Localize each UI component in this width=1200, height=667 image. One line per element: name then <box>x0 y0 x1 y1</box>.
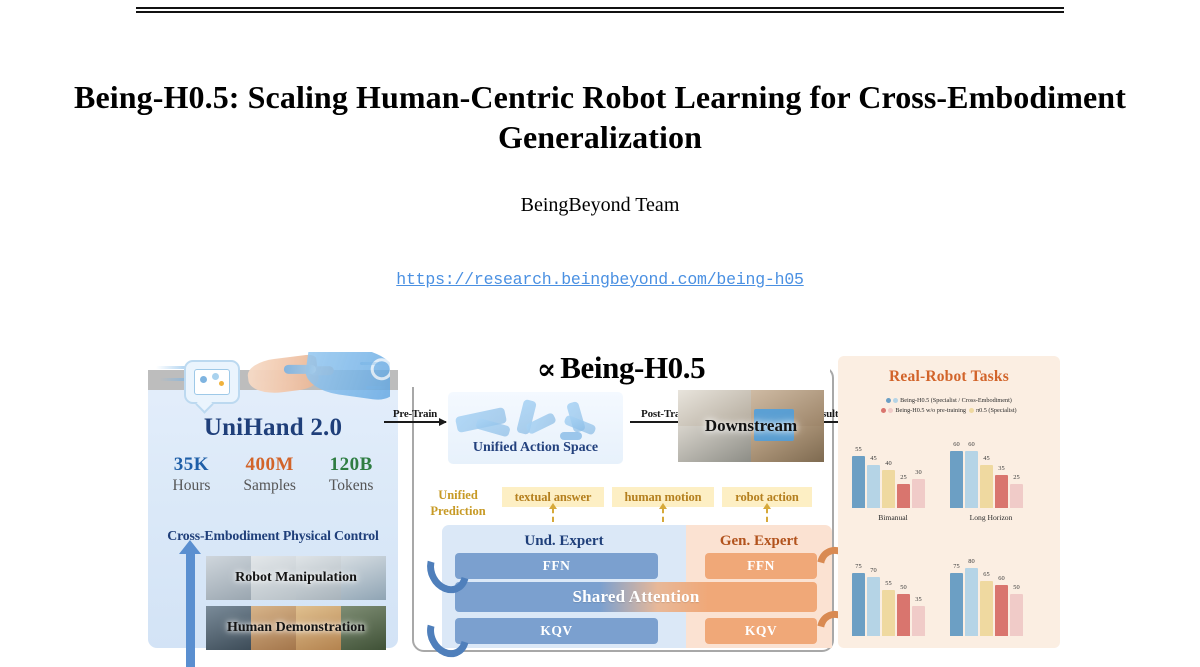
chart-fourth: 7580656050 <box>950 546 1032 650</box>
chart-long-horizon-xlabel: Long Horizon <box>950 513 1032 522</box>
legend-swatch-no-pretrain-a <box>881 408 886 413</box>
infinity-glyph-icon: ∝ <box>537 354 556 386</box>
human-demonstration-strip: Human Demonstration <box>206 606 386 650</box>
bar-value-label: 60 <box>953 441 959 448</box>
bar-value-label: 25 <box>900 474 906 481</box>
bar-value-label: 60 <box>998 575 1004 582</box>
upward-arrow-icon <box>186 552 195 667</box>
stat-hours-label: Hours <box>173 477 211 495</box>
stat-samples-label: Samples <box>243 477 296 495</box>
legend-item-1: Being-H0.5 w/o pre-training <box>881 406 966 416</box>
prediction-tick-textual <box>552 508 554 522</box>
bar: 70 <box>867 577 880 636</box>
bar: 75 <box>852 573 865 636</box>
bar: 55 <box>852 456 865 508</box>
bar: 30 <box>912 479 925 508</box>
bar: 55 <box>882 590 895 636</box>
speech-bubble-icon <box>184 360 240 404</box>
legend-swatch-cross-embodiment <box>893 398 898 403</box>
chart-bimanual: 5545402530 Bimanual <box>852 418 934 522</box>
page-title: Being-H0.5: Scaling Human-Centric Robot … <box>0 78 1200 157</box>
stat-tokens-label: Tokens <box>329 477 374 495</box>
chart-third-bars: 7570555035 <box>852 560 925 636</box>
legend-item-0: Being-H0.5 (Specialist / Cross-Embodimen… <box>886 396 1012 406</box>
stat-samples-value: 400M <box>243 454 296 476</box>
header-divider <box>136 7 1064 13</box>
bar: 50 <box>897 594 910 636</box>
bar: 25 <box>1010 484 1023 508</box>
bar: 60 <box>965 451 978 508</box>
bar: 75 <box>950 573 963 636</box>
unihand-title: UniHand 2.0 <box>148 414 398 442</box>
bar-value-label: 45 <box>870 455 876 462</box>
shared-attention-block: Shared Attention <box>455 582 817 612</box>
header-divider-line-1 <box>136 7 1064 9</box>
understanding-expert-label: Und. Expert <box>442 533 686 550</box>
prediction-tick-motion <box>662 508 664 522</box>
unihand-panel: UniHand 2.0 35K Hours 400M Samples 120B … <box>148 370 398 648</box>
legend-swatch-no-pretrain-b <box>888 408 893 413</box>
bar-value-label: 50 <box>900 584 906 591</box>
chart-long-horizon-bars: 6060453525 <box>950 432 1023 508</box>
bar-value-label: 75 <box>953 563 959 570</box>
chart-bimanual-xlabel: Bimanual <box>852 513 934 522</box>
bar: 60 <box>950 451 963 508</box>
bar: 25 <box>897 484 910 508</box>
chart-long-horizon: 6060453525 Long Horizon <box>950 418 1032 522</box>
ffn-generation: FFN <box>705 553 817 579</box>
stat-samples: 400M Samples <box>243 454 296 495</box>
robot-manipulation-label: Robot Manipulation <box>235 570 357 586</box>
legend-label-1: Being-H0.5 w/o pre-training <box>895 406 966 416</box>
bar-value-label: 70 <box>870 567 876 574</box>
bar-value-label: 35 <box>915 596 921 603</box>
results-panel-title: Real-Robot Tasks <box>838 368 1060 386</box>
stat-tokens: 120B Tokens <box>329 454 374 495</box>
paper-authors: BeingBeyond Team <box>0 194 1200 217</box>
bar: 50 <box>1010 594 1023 636</box>
robot-manipulation-strip: Robot Manipulation <box>206 556 386 600</box>
being-h05-wordmark: Being-H0.5 <box>560 350 705 385</box>
stat-hours-value: 35K <box>173 454 211 476</box>
legend-swatch-pi05 <box>969 408 974 413</box>
bar: 45 <box>867 465 880 508</box>
bar-value-label: 65 <box>983 571 989 578</box>
header-divider-line-2 <box>136 11 1064 13</box>
being-h05-logo: ∝ Being-H0.5 <box>412 350 830 387</box>
bar: 80 <box>965 568 978 636</box>
bar-value-label: 45 <box>983 455 989 462</box>
legend-label-2: π0.5 (Specialist) <box>976 406 1017 416</box>
legend-swatch-specialist <box>886 398 891 403</box>
project-page-link[interactable]: https://research.beingbeyond.com/being-h… <box>0 270 1200 289</box>
bar-value-label: 50 <box>1013 584 1019 591</box>
unified-prediction-label: UnifiedPrediction <box>422 488 494 519</box>
kqv-generation: KQV <box>705 618 817 644</box>
downstream-box: Downstream <box>678 390 824 462</box>
prediction-tick-action <box>766 508 768 522</box>
bar: 65 <box>980 581 993 636</box>
chart-bimanual-bars: 5545402530 <box>852 432 925 508</box>
bar-value-label: 80 <box>968 558 974 565</box>
robot-hand-icon <box>303 352 390 402</box>
kqv-understanding: KQV <box>455 618 658 644</box>
unified-action-space-box: Unified Action Space <box>448 392 623 464</box>
stat-hours: 35K Hours <box>173 454 211 495</box>
bar: 35 <box>995 475 1008 508</box>
human-demonstration-label: Human Demonstration <box>227 620 365 636</box>
bar: 35 <box>912 606 925 636</box>
unified-action-space-label: Unified Action Space <box>448 440 623 456</box>
legend-item-2: π0.5 (Specialist) <box>969 406 1017 416</box>
teaser-figure: UniHand 2.0 35K Hours 400M Samples 120B … <box>140 348 1060 648</box>
stat-tokens-value: 120B <box>329 454 374 476</box>
generation-expert-label: Gen. Expert <box>686 533 832 550</box>
legend-label-0: Being-H0.5 (Specialist / Cross-Embodimen… <box>900 396 1012 406</box>
chart-fourth-bars: 7580656050 <box>950 560 1023 636</box>
bar-value-label: 35 <box>998 465 1004 472</box>
bar-value-label: 60 <box>968 441 974 448</box>
chart-third: 7570555035 <box>852 546 934 650</box>
downstream-label: Downstream <box>678 416 824 436</box>
bar-value-label: 75 <box>855 563 861 570</box>
bar-value-label: 55 <box>885 580 891 587</box>
pre-train-arrow: Pre-Train <box>384 408 446 423</box>
bar-value-label: 40 <box>885 460 891 467</box>
bar: 40 <box>882 470 895 508</box>
results-legend: Being-H0.5 (Specialist / Cross-Embodimen… <box>844 396 1054 415</box>
real-robot-results-panel: Real-Robot Tasks Being-H0.5 (Specialist … <box>838 356 1060 648</box>
bar-value-label: 25 <box>1013 474 1019 481</box>
human-robot-hands-illustration <box>156 352 390 414</box>
bar-value-label: 30 <box>915 469 921 476</box>
bar: 60 <box>995 585 1008 636</box>
unihand-stats: 35K Hours 400M Samples 120B Tokens <box>156 454 390 495</box>
ffn-understanding: FFN <box>455 553 658 579</box>
bar-value-label: 55 <box>855 446 861 453</box>
pre-train-label: Pre-Train <box>384 408 446 420</box>
bar: 45 <box>980 465 993 508</box>
